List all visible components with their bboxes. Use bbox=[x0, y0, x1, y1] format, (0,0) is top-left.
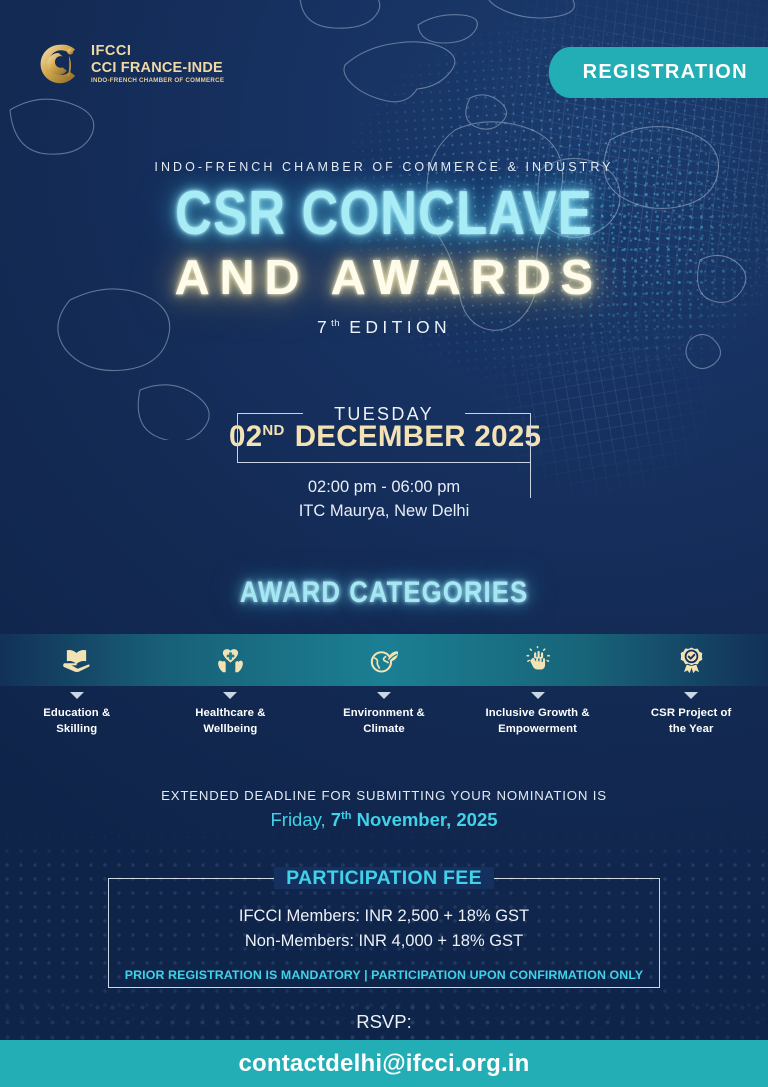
award-category-education[interactable]: Education &Skilling bbox=[0, 634, 154, 739]
logo-line-2: CCI FRANCE-INDE bbox=[91, 61, 224, 76]
chevron-down-icon bbox=[377, 692, 391, 699]
participation-fee-box: PARTICIPATION FEE IFCCI Members: INR 2,5… bbox=[108, 878, 660, 988]
deadline-label: EXTENDED DEADLINE FOR SUBMITTING YOUR NO… bbox=[0, 788, 768, 803]
award-categories-heading: AWARD CATEGORIES bbox=[54, 576, 714, 610]
rsvp-label: RSVP: bbox=[0, 1011, 768, 1033]
brand-logo[interactable]: IFCCI CCI FRANCE-INDE INDO-FRENCH CHAMBE… bbox=[38, 42, 224, 86]
award-category-label: Healthcare &Wellbeing bbox=[195, 705, 265, 737]
open-book-on-hand-icon bbox=[60, 634, 93, 686]
participation-fee-title: PARTICIPATION FEE bbox=[109, 867, 659, 890]
fee-members: IFCCI Members: INR 2,500 + 18% GST bbox=[109, 904, 659, 929]
logo-line-3: INDO-FRENCH CHAMBER OF COMMERCE bbox=[91, 78, 224, 84]
title-block: INDO-FRENCH CHAMBER OF COMMERCE & INDUST… bbox=[0, 160, 768, 338]
chevron-down-icon bbox=[684, 692, 698, 699]
deadline-date-number: 7 bbox=[331, 809, 341, 830]
award-category-label: Education &Skilling bbox=[43, 705, 110, 737]
deadline-date-rest: November, 2025 bbox=[351, 809, 497, 830]
award-category-label: Environment &Climate bbox=[343, 705, 425, 737]
registration-button-label: REGISTRATION bbox=[582, 61, 747, 84]
participation-fee-lines: IFCCI Members: INR 2,500 + 18% GST Non-M… bbox=[109, 904, 659, 954]
ifcci-logo-icon bbox=[38, 42, 82, 86]
event-title-secondary: AND AWARDS bbox=[0, 254, 768, 303]
event-date: 02NDDECEMBER 2025 bbox=[229, 420, 539, 454]
award-category-label: CSR Project ofthe Year bbox=[651, 705, 732, 737]
poster-canvas: IFCCI CCI FRANCE-INDE INDO-FRENCH CHAMBE… bbox=[0, 0, 768, 1087]
chevron-down-icon bbox=[70, 692, 84, 699]
event-title-primary: CSR CONCLAVE bbox=[69, 183, 699, 245]
organizer-kicker: INDO-FRENCH CHAMBER OF COMMERCE & INDUST… bbox=[0, 160, 768, 174]
edition-word: EDITION bbox=[349, 317, 451, 337]
award-category-healthcare[interactable]: Healthcare &Wellbeing bbox=[154, 634, 308, 739]
fee-non-members: Non-Members: INR 4,000 + 18% GST bbox=[109, 929, 659, 954]
logo-line-1: IFCCI bbox=[91, 44, 224, 59]
event-time: 02:00 pm - 06:00 pm bbox=[0, 476, 768, 500]
deadline-day-name: Friday, bbox=[270, 809, 330, 830]
award-category-environment[interactable]: Environment &Climate bbox=[307, 634, 461, 739]
deadline-date-ordinal: th bbox=[341, 810, 351, 822]
event-date-block: TUESDAY 02NDDECEMBER 2025 02:00 pm - 06:… bbox=[0, 400, 768, 523]
registration-note: PRIOR REGISTRATION IS MANDATORY | PARTIC… bbox=[109, 968, 659, 982]
chevron-down-icon bbox=[223, 692, 237, 699]
award-categories-row: Education &Skilling Healthcare &Wellbein… bbox=[0, 634, 768, 739]
edition-ordinal: th bbox=[331, 318, 340, 329]
event-venue: ITC Maurya, New Delhi bbox=[0, 500, 768, 524]
deadline-date: Friday, 7th November, 2025 bbox=[0, 809, 768, 831]
event-weekday: TUESDAY bbox=[229, 404, 539, 425]
contact-email[interactable]: contactdelhi@ifcci.org.in bbox=[238, 1050, 529, 1078]
edition-label: 7th EDITION bbox=[0, 317, 768, 338]
registration-button[interactable]: REGISTRATION bbox=[549, 47, 768, 98]
award-category-label: Inclusive Growth &Empowerment bbox=[486, 705, 590, 737]
award-ribbon-check-icon bbox=[675, 634, 708, 686]
event-meta: 02:00 pm - 06:00 pm ITC Maurya, New Delh… bbox=[0, 476, 768, 523]
edition-number: 7 bbox=[317, 317, 331, 337]
date-frame-rule-tail bbox=[530, 413, 531, 498]
contact-email-bar[interactable]: contactdelhi@ifcci.org.in bbox=[0, 1040, 768, 1087]
globe-with-leaf-icon bbox=[367, 634, 400, 686]
raised-fist-idea-icon bbox=[521, 634, 554, 686]
date-frame: TUESDAY 02NDDECEMBER 2025 bbox=[229, 400, 539, 463]
nomination-deadline: EXTENDED DEADLINE FOR SUBMITTING YOUR NO… bbox=[0, 788, 768, 831]
heart-in-hands-medical-icon bbox=[214, 634, 247, 686]
award-category-csr-project[interactable]: CSR Project ofthe Year bbox=[614, 634, 768, 739]
award-category-inclusive-growth[interactable]: Inclusive Growth &Empowerment bbox=[461, 634, 615, 739]
chevron-down-icon bbox=[531, 692, 545, 699]
participation-fee-title-text: PARTICIPATION FEE bbox=[274, 867, 494, 889]
